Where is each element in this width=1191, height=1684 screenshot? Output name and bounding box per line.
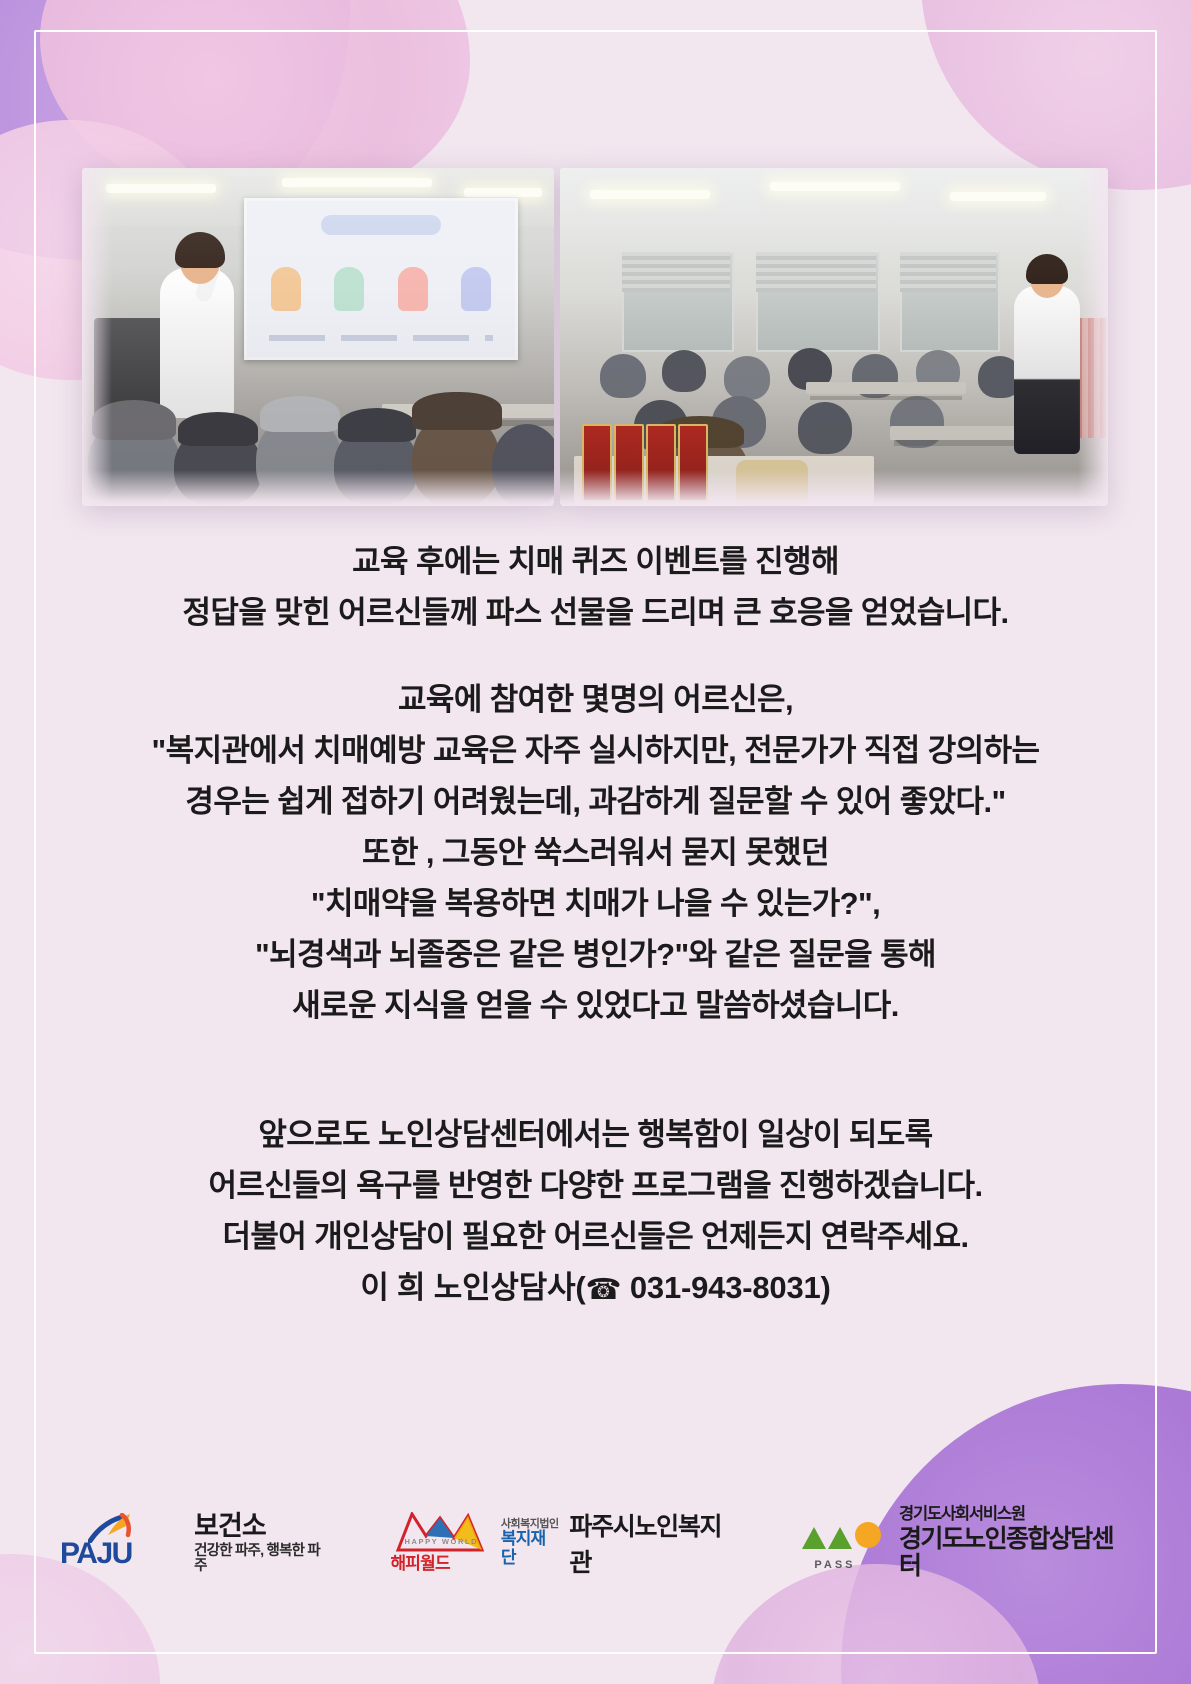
copy-line: 교육 후에는 치매 퀴즈 이벤트를 진행해: [70, 536, 1121, 587]
copy-line: 교육에 참여한 몇명의 어르신은,: [70, 674, 1121, 725]
projector-screen: [244, 198, 518, 360]
audience-person: [662, 350, 706, 392]
copy-line: "치매약을 복용하면 치매가 나을 수 있는가?",: [70, 878, 1121, 929]
gyeonggi-center-name: 경기도노인종합상담센터: [899, 1526, 1131, 1581]
copy-line: "뇌경색과 뇌졸중은 같은 병인가?"와 같은 질문을 통해: [70, 929, 1121, 980]
pass-wordmark: PASS: [814, 1559, 855, 1571]
photo-strip: [82, 168, 1108, 506]
gift-tray: [736, 460, 808, 506]
contact-line: 이 희 노인상담사(☎ 031-943-8031): [70, 1262, 1121, 1316]
telephone-icon: ☎: [586, 1274, 622, 1306]
body-copy: 교육 후에는 치매 퀴즈 이벤트를 진행해 정답을 맞힌 어르신들께 파스 선물…: [70, 536, 1121, 1316]
logo-paju-health-center: PAJU 보건소 건강한 파주, 행복한 파주: [60, 1512, 330, 1575]
staff-figure: [1014, 286, 1080, 454]
welfare-center-name: 파주시노인복지관: [569, 1507, 740, 1579]
poster-root: 교육 후에는 치매 퀴즈 이벤트를 진행해 정답을 맞힌 어르신들께 파스 선물…: [0, 0, 1191, 1684]
happy-world-tagline: HAPPY WORLD: [404, 1537, 478, 1546]
gift-box: [582, 424, 612, 502]
copy-line: 정답을 맞힌 어르신들께 파스 선물을 드리며 큰 호응을 얻었습니다.: [70, 587, 1121, 638]
paju-title: 보건소: [194, 1512, 330, 1540]
gift-box: [614, 424, 644, 502]
phone-number: 031-943-8031): [621, 1270, 830, 1305]
copy-line: 새로운 지식을 얻을 수 있었다고 말씀하셨습니다.: [70, 980, 1121, 1031]
photo-lecture-presenter: [82, 168, 554, 506]
room-table: [806, 382, 966, 394]
logo-gyeonggi-senior-counseling-center: PASS 경기도사회서비스원 경기도노인종합상담센터: [798, 1505, 1131, 1580]
audience-person: [600, 354, 646, 398]
foundation-name: 복지재단: [501, 1530, 559, 1567]
copy-line: "복지관에서 치매예방 교육은 자주 실시하지만, 전문가가 직접 강의하는: [70, 725, 1121, 776]
happy-world-crown-icon: [392, 1512, 488, 1552]
copy-line: 경우는 쉽게 접하기 어려웠는데, 과감하게 질문할 수 있어 좋았다.": [70, 776, 1121, 827]
audience-person: [798, 402, 852, 454]
paragraph-participant-feedback: 교육에 참여한 몇명의 어르신은, "복지관에서 치매예방 교육은 자주 실시하…: [70, 674, 1121, 1031]
counselor-name: 이 희 노인상담사(: [360, 1270, 585, 1305]
audience-person: [724, 356, 770, 400]
paragraph-closing: 앞으로도 노인상담센터에서는 행복함이 일상이 되도록 어르신들의 욕구를 반영…: [70, 1109, 1121, 1316]
paju-wordmark: PAJU: [60, 1537, 132, 1571]
logo-happy-world-foundation: HAPPY WORLD 해피월드 사회복지법인 복지재단 파주시노인복지관: [388, 1507, 740, 1579]
copy-line: 또한 , 그동안 쑥스러워서 묻지 못했던: [70, 827, 1121, 878]
copy-line: 더불어 개인상담이 필요한 어르신들은 언제든지 연락주세요.: [70, 1211, 1121, 1262]
paragraph-quiz-event: 교육 후에는 치매 퀴즈 이벤트를 진행해 정답을 맞힌 어르신들께 파스 선물…: [70, 536, 1121, 638]
copy-line: 앞으로도 노인상담센터에서는 행복함이 일상이 되도록: [70, 1109, 1121, 1160]
photo-audience-quiz: [560, 168, 1108, 506]
gift-box: [646, 424, 676, 502]
audience-person: [492, 424, 554, 506]
pass-chevron-icon: [798, 1515, 890, 1555]
copy-line: 어르신들의 욕구를 반영한 다양한 프로그램을 진행하겠습니다.: [70, 1160, 1121, 1211]
paju-subtitle: 건강한 파주, 행복한 파주: [194, 1544, 330, 1574]
footer-logos: PAJU 보건소 건강한 파주, 행복한 파주 HAPPY WORLD 해피월드: [60, 1497, 1131, 1589]
audience-person: [890, 396, 944, 448]
happy-world-wordmark: 해피월드: [390, 1549, 449, 1574]
gyeonggi-org-name: 경기도사회서비스원: [899, 1505, 1131, 1523]
gift-box: [678, 424, 708, 502]
